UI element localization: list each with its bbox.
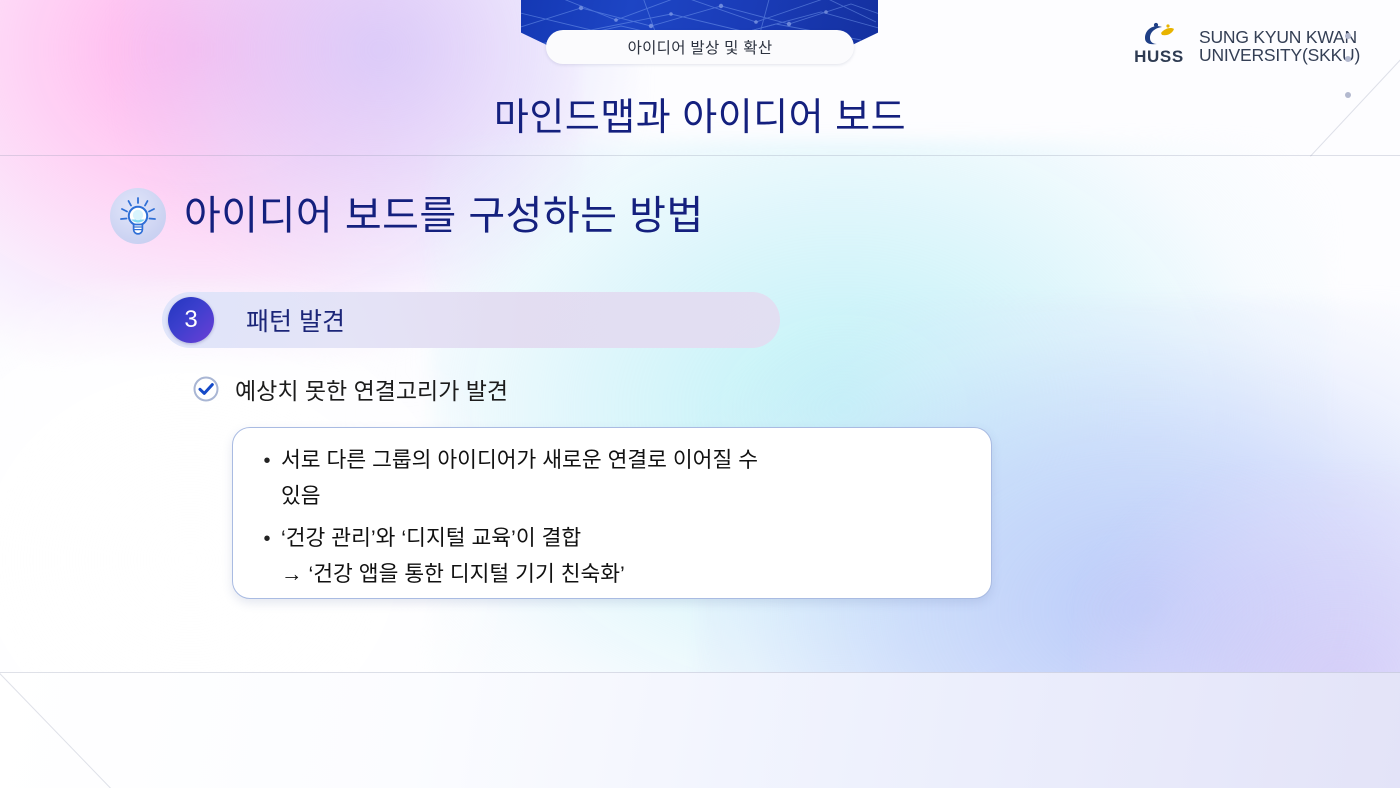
section-heading: 아이디어 보드를 구성하는 방법 <box>110 188 704 244</box>
page-title: 마인드맵과 아이디어 보드 <box>0 86 1400 141</box>
huss-logo-text: HUSS <box>1134 48 1184 65</box>
header-divider <box>0 155 1400 156</box>
section-title: 아이디어 보드를 구성하는 방법 <box>184 194 704 238</box>
list-item-text: ‘건강 관리’와 ‘디지털 교육’이 결합 → ‘건강 앱을 통한 디지털 기기… <box>281 520 625 592</box>
list-item: • 서로 다른 그룹의 아이디어가 새로운 연결로 이어질 수 있음 <box>253 442 965 514</box>
list-item-text: 서로 다른 그룹의 아이디어가 새로운 연결로 이어질 수 있음 <box>281 442 758 514</box>
university-logo: HUSS SUNG KYUN KWAN UNIVERSITY(SKKU) <box>1128 22 1360 65</box>
bullet-icon: • <box>253 520 281 558</box>
check-statement-text: 예상치 못한 연결고리가 발견 <box>235 372 508 406</box>
lightbulb-icon <box>110 188 166 244</box>
university-name-line-1: SUNG KYUN KWAN <box>1199 28 1360 47</box>
list-item: • ‘건강 관리’와 ‘디지털 교육’이 결합 → ‘건강 앱을 통한 디지털 … <box>253 520 965 592</box>
banner-label-pill: 아이디어 발상 및 확산 <box>546 30 854 64</box>
check-circle-icon <box>192 375 220 403</box>
step-label: 패턴 발견 <box>246 302 345 338</box>
step-header-pill: 3 패턴 발견 <box>162 292 780 348</box>
detail-card: • 서로 다른 그룹의 아이디어가 새로운 연결로 이어질 수 있음 • ‘건강… <box>232 427 992 599</box>
check-statement: 예상치 못한 연결고리가 발견 <box>192 372 508 406</box>
footer-divider <box>0 672 1400 673</box>
crescent-leaf-icon <box>1139 22 1179 46</box>
step-number-badge: 3 <box>168 297 214 343</box>
background-footer-band <box>0 672 1400 788</box>
university-name-line-2: UNIVERSITY(SKKU) <box>1199 46 1360 65</box>
university-name: SUNG KYUN KWAN UNIVERSITY(SKKU) <box>1199 28 1360 65</box>
bullet-icon: • <box>253 442 281 480</box>
banner-label-text: 아이디어 발상 및 확산 <box>628 36 773 58</box>
dot-2 <box>1345 56 1351 62</box>
dot-1 <box>1345 33 1351 39</box>
huss-logo-mark: HUSS <box>1128 22 1190 65</box>
slide-canvas: 아이디어 발상 및 확산 HUSS SUNG KYUN KWAN UNIVERS… <box>0 0 1400 788</box>
